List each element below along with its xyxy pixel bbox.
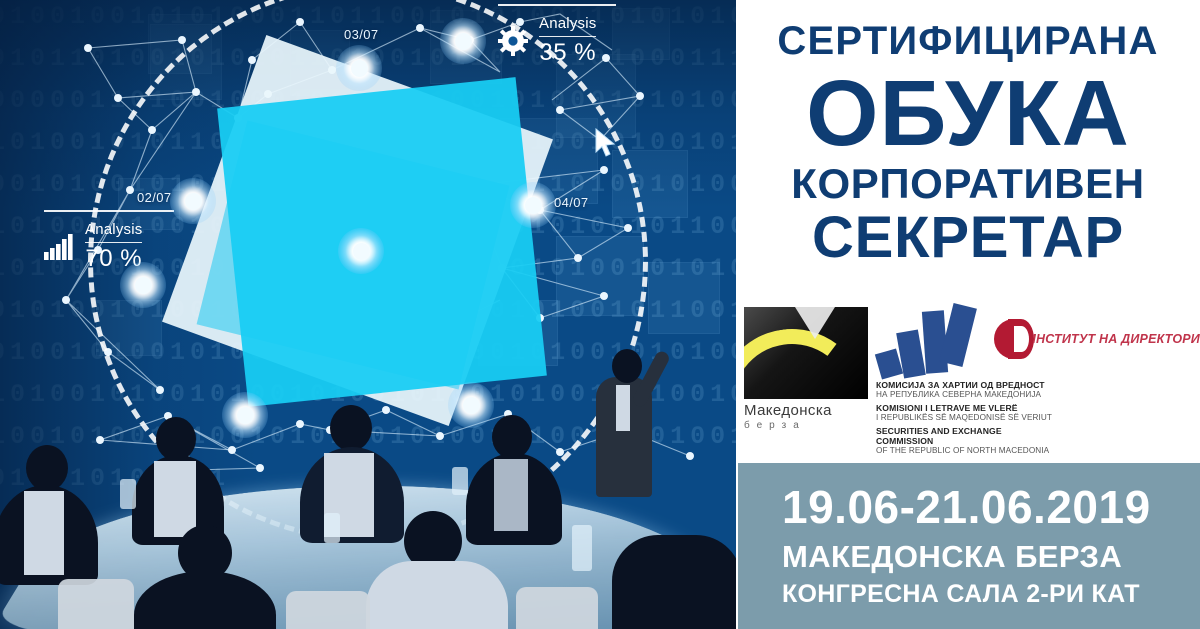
sec-line-5: SECURITIES AND EXCHANGE COMMISSION (876, 426, 1058, 446)
attendee-shirt (366, 561, 508, 629)
attendee-body (612, 535, 736, 629)
attendee-shirt (154, 461, 196, 537)
title-block: СЕРТИФИЦИРАНА ОБУКА КОРПОРАТИВЕН СЕКРЕТА… (736, 6, 1200, 267)
boardroom-scene (0, 329, 736, 629)
node-marker-center (338, 228, 384, 274)
water-glass (324, 513, 340, 543)
water-glass (120, 479, 136, 509)
title-corporate: КОРПОРАТИВЕН (736, 163, 1200, 206)
sec-line-2: НА РЕПУБЛИКА СЕВЕРНА МАКЕДОНИЈА (876, 390, 1058, 400)
node-marker-left (120, 262, 166, 308)
bar-chart-icon (44, 234, 74, 260)
event-venue: МАКЕДОНСКА БЕРЗА (782, 538, 1200, 575)
promotional-banner: 0100100101010001101100101010011010101001… (0, 0, 1200, 629)
node-label-0307: 03/07 (344, 27, 379, 42)
event-hall: КОНГРЕСНА САЛА 2-РИ КАТ (782, 579, 1200, 609)
analysis-callout-left: Analysis 70 % (44, 210, 194, 273)
water-glass (452, 467, 468, 495)
attendee-shirt (24, 491, 64, 575)
node-marker-0207 (170, 178, 216, 224)
securities-commission-mark-icon (878, 305, 974, 377)
chair (516, 587, 598, 629)
title-secretary: СЕКРЕТАР (736, 208, 1200, 267)
node-marker-top (440, 18, 486, 64)
node-marker-0307 (336, 45, 382, 91)
chair (58, 579, 134, 629)
institute-of-directors-mark-icon (994, 319, 1022, 359)
title-certified: СЕРТИФИЦИРАНА (736, 20, 1200, 62)
node-marker-0407 (510, 182, 556, 228)
logo-row: Македонска берза КОМИСИЈА ЗА ХАРТИИ ОД В… (736, 305, 1200, 455)
institute-of-directors-text: ИНСТИТУТ НА ДИРЕКТОРИ (1027, 332, 1200, 346)
chair (286, 591, 370, 629)
mse-subtitle: берза (744, 420, 868, 431)
securities-commission-text: КОМИСИЈА ЗА ХАРТИИ ОД ВРЕДНОСТ НА РЕПУБЛ… (876, 380, 1058, 456)
analysis-label-left: Analysis (85, 221, 142, 240)
title-training: ОБУКА (736, 68, 1200, 159)
macedonian-stock-exchange-logo: Македонска берза (744, 307, 868, 431)
sec-line-4: I REPUBLIKËS SË MAQEDONISË SË VERIUT (876, 413, 1058, 423)
analysis-callout-top: Analysis 35 % (498, 4, 658, 67)
mouse-cursor-icon (595, 128, 617, 158)
attendee-head (330, 405, 372, 451)
node-label-0407: 04/07 (554, 195, 589, 210)
analysis-label-top: Analysis (539, 15, 596, 34)
node-label-0207: 02/07 (137, 190, 172, 205)
mse-name: Македонска (744, 402, 868, 419)
water-bottle (572, 525, 592, 571)
event-dates: 19.06-21.06.2019 (782, 483, 1200, 533)
sec-line-6: OF THE REPUBLIC OF NORTH MACEDONIA (876, 446, 1058, 456)
attendee-shirt (494, 459, 528, 531)
presenter-shirt (616, 385, 630, 431)
event-details-block: 19.06-21.06.2019 МАКЕДОНСКА БЕРЗА КОНГРЕ… (738, 463, 1200, 629)
hero-photo: 0100100101010001101100101010011010101001… (0, 0, 736, 629)
mse-mark-icon (744, 307, 868, 399)
sec-line-1: КОМИСИЈА ЗА ХАРТИИ ОД ВРЕДНОСТ (876, 380, 1058, 390)
sec-line-3: KOMISIONI I LETRAVE ME VLERË (876, 403, 1058, 413)
presenter-head (612, 349, 642, 383)
analysis-value-top: 35 % (539, 40, 596, 66)
institute-of-directors-logo: ИНСТИТУТ НА ДИРЕКТОРИ (994, 319, 1200, 359)
gear-icon (498, 26, 528, 56)
